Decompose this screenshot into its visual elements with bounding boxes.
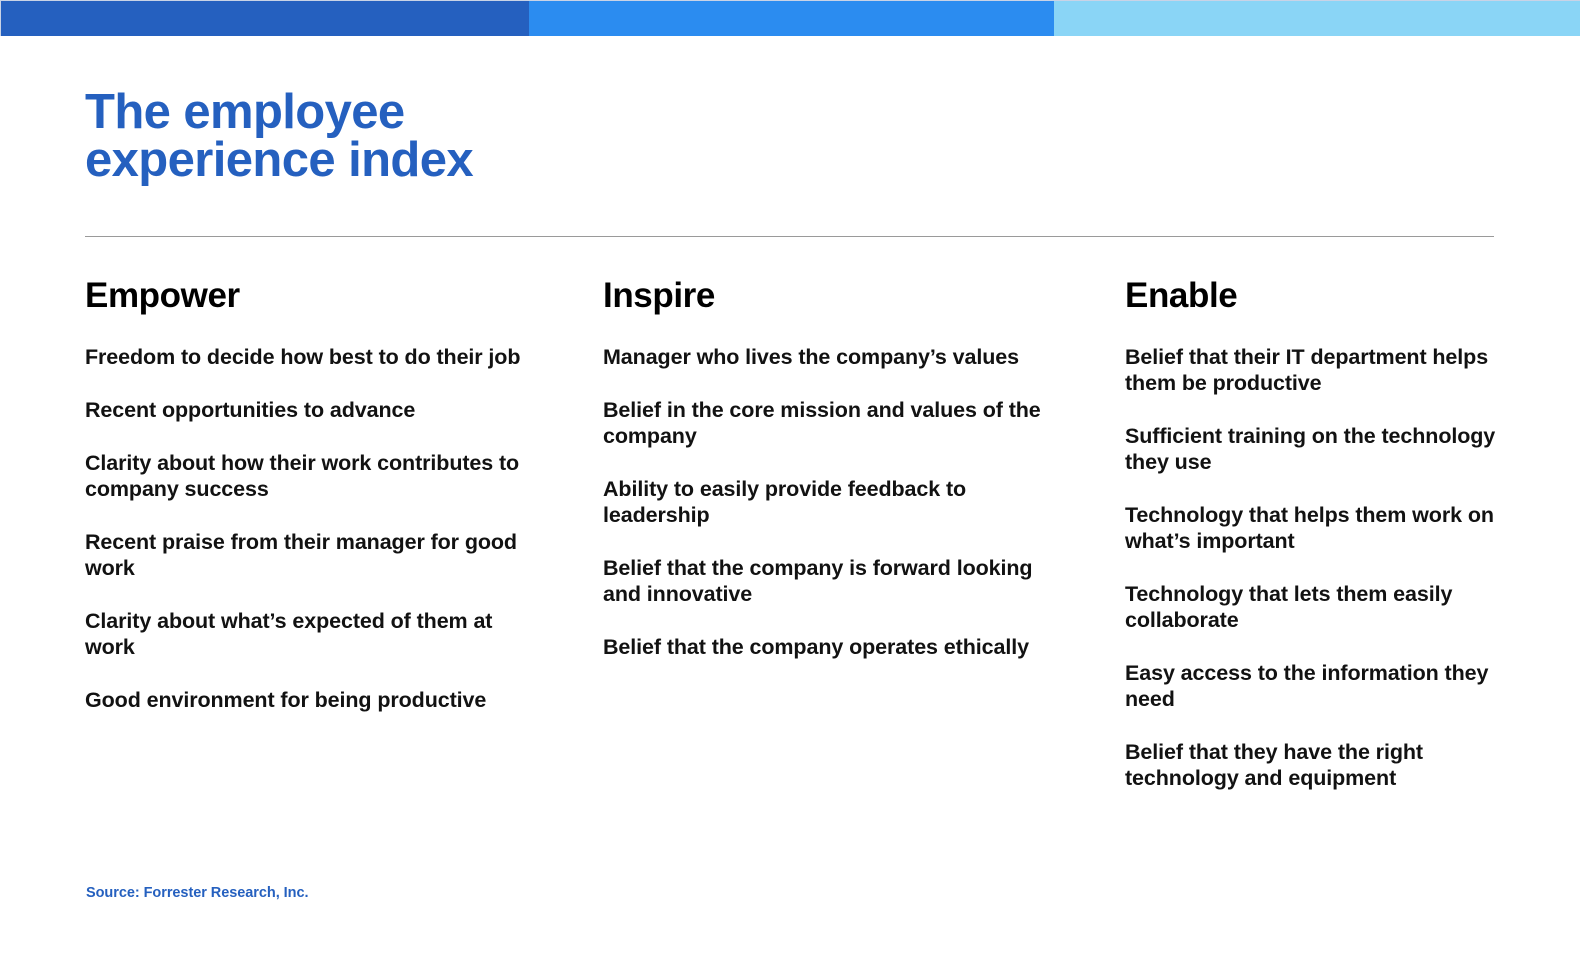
list-item: Technology that helps them work on what’… (1125, 502, 1505, 554)
list-item: Ability to easily provide feedback to le… (603, 476, 1065, 528)
header-divider (85, 236, 1494, 237)
title-block: The employee experience index (85, 88, 985, 184)
list-item: Recent praise from their manager for goo… (85, 529, 533, 581)
list-item: Belief that they have the right technolo… (1125, 739, 1505, 791)
list-item: Sufficient training on the technology th… (1125, 423, 1505, 475)
list-item: Technology that lets them easily collabo… (1125, 581, 1505, 633)
list-item: Belief that the company operates ethical… (603, 634, 1065, 660)
list-item: Clarity about what’s expected of them at… (85, 608, 533, 660)
source-attribution: Source: Forrester Research, Inc. (86, 884, 308, 902)
list-item: Clarity about how their work contributes… (85, 450, 533, 502)
list-item: Easy access to the information they need (1125, 660, 1505, 712)
page-title: The employee experience index (85, 88, 985, 184)
column-heading-empower: Empower (85, 276, 533, 316)
slide-canvas: The employee experience index Empower Fr… (0, 0, 1580, 955)
item-list-empower: Freedom to decide how best to do their j… (85, 344, 533, 713)
item-list-inspire: Manager who lives the company’s values B… (603, 344, 1065, 660)
top-color-bar (0, 0, 1580, 36)
list-item: Belief in the core mission and values of… (603, 397, 1065, 449)
list-item: Belief that the company is forward looki… (603, 555, 1065, 607)
top-bar-segment-mid-blue (529, 1, 1054, 36)
list-item: Good environment for being productive (85, 687, 533, 713)
list-item: Freedom to decide how best to do their j… (85, 344, 533, 370)
list-item: Belief that their IT department helps th… (1125, 344, 1505, 396)
column-heading-inspire: Inspire (603, 276, 1065, 316)
top-bar-segment-dark-blue (1, 1, 529, 36)
column-enable: Enable Belief that their IT department h… (1125, 276, 1505, 791)
item-list-enable: Belief that their IT department helps th… (1125, 344, 1505, 791)
list-item: Recent opportunities to advance (85, 397, 533, 423)
columns-container: Empower Freedom to decide how best to do… (85, 276, 1505, 791)
column-inspire: Inspire Manager who lives the company’s … (603, 276, 1125, 791)
column-empower: Empower Freedom to decide how best to do… (85, 276, 603, 791)
column-heading-enable: Enable (1125, 276, 1505, 316)
list-item: Manager who lives the company’s values (603, 344, 1065, 370)
top-bar-segment-light-blue (1054, 1, 1580, 36)
